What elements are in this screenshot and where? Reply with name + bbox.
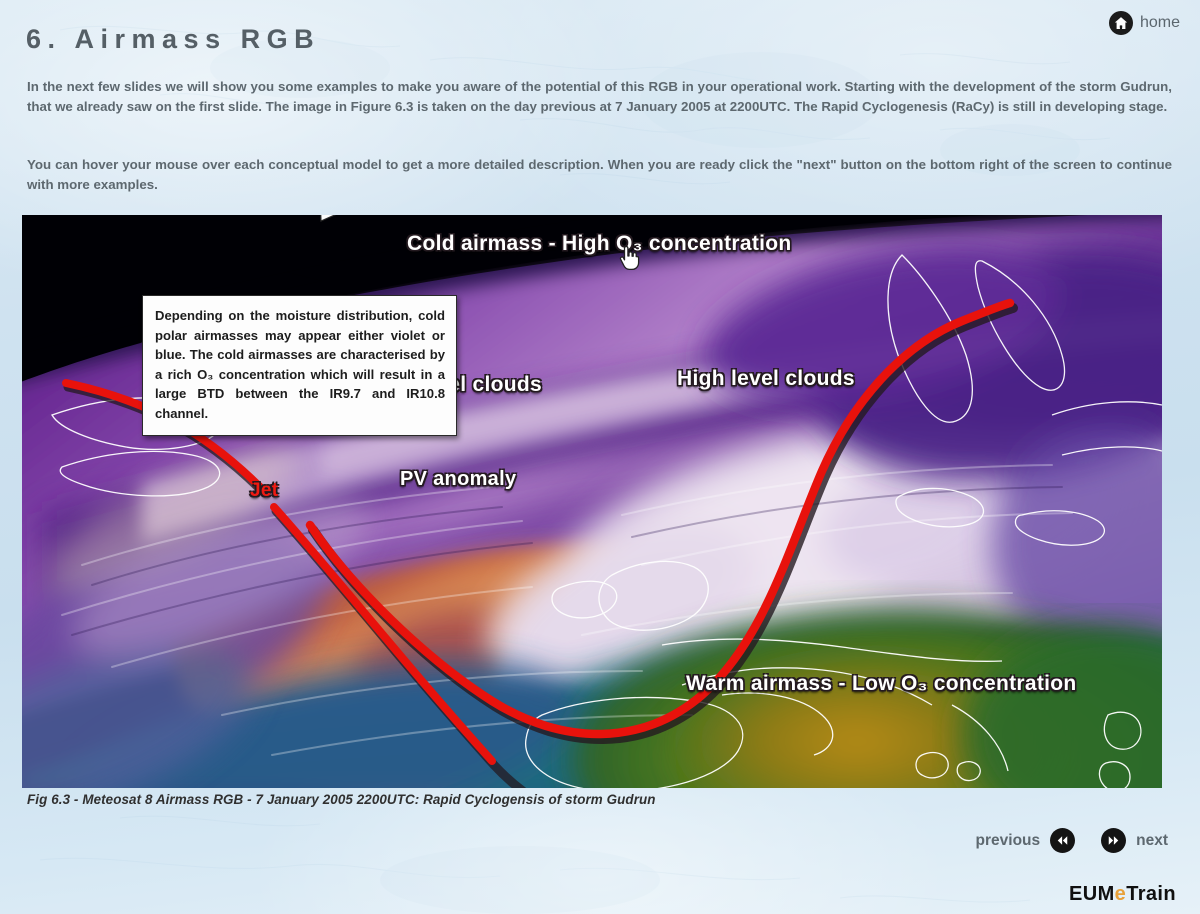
navigation-bar: previous next <box>976 828 1168 853</box>
label-high-level-clouds[interactable]: High level clouds <box>677 367 855 391</box>
brand-accent-e: e <box>1115 883 1127 905</box>
label-jet[interactable]: Jet <box>250 480 278 502</box>
figure-caption: Fig 6.3 - Meteosat 8 Airmass RGB - 7 Jan… <box>27 792 656 807</box>
next-label[interactable]: next <box>1136 832 1168 850</box>
home-label: home <box>1140 14 1180 32</box>
brand-part-2: Train <box>1126 883 1176 905</box>
eumetrain-logo: EUMeTrain <box>1069 883 1176 906</box>
brand-part-1: EUM <box>1069 883 1115 905</box>
page-title: 6. Airmass RGB <box>26 24 320 55</box>
tooltip-text: Depending on the moisture distribution, … <box>155 306 445 424</box>
previous-label[interactable]: previous <box>976 832 1041 850</box>
intro-paragraph-1: In the next few slides we will show you … <box>27 77 1172 116</box>
previous-button[interactable] <box>1050 828 1075 853</box>
double-chevron-right-icon <box>1106 833 1121 848</box>
conceptual-model-tooltip: Depending on the moisture distribution, … <box>142 295 457 436</box>
label-warm-airmass[interactable]: Warm airmass - Low O₃ concentration <box>686 672 1077 696</box>
double-chevron-left-icon <box>1055 833 1070 848</box>
satellite-image-panel[interactable]: Cold airmass - High O₃ concentration Mid… <box>22 215 1162 788</box>
label-pv-anomaly[interactable]: PV anomaly <box>400 468 516 491</box>
home-icon <box>1109 11 1133 35</box>
home-button[interactable]: home <box>1109 11 1180 35</box>
next-button[interactable] <box>1101 828 1126 853</box>
intro-paragraph-2: You can hover your mouse over each conce… <box>27 155 1172 194</box>
label-cold-airmass[interactable]: Cold airmass - High O₃ concentration <box>407 232 792 256</box>
